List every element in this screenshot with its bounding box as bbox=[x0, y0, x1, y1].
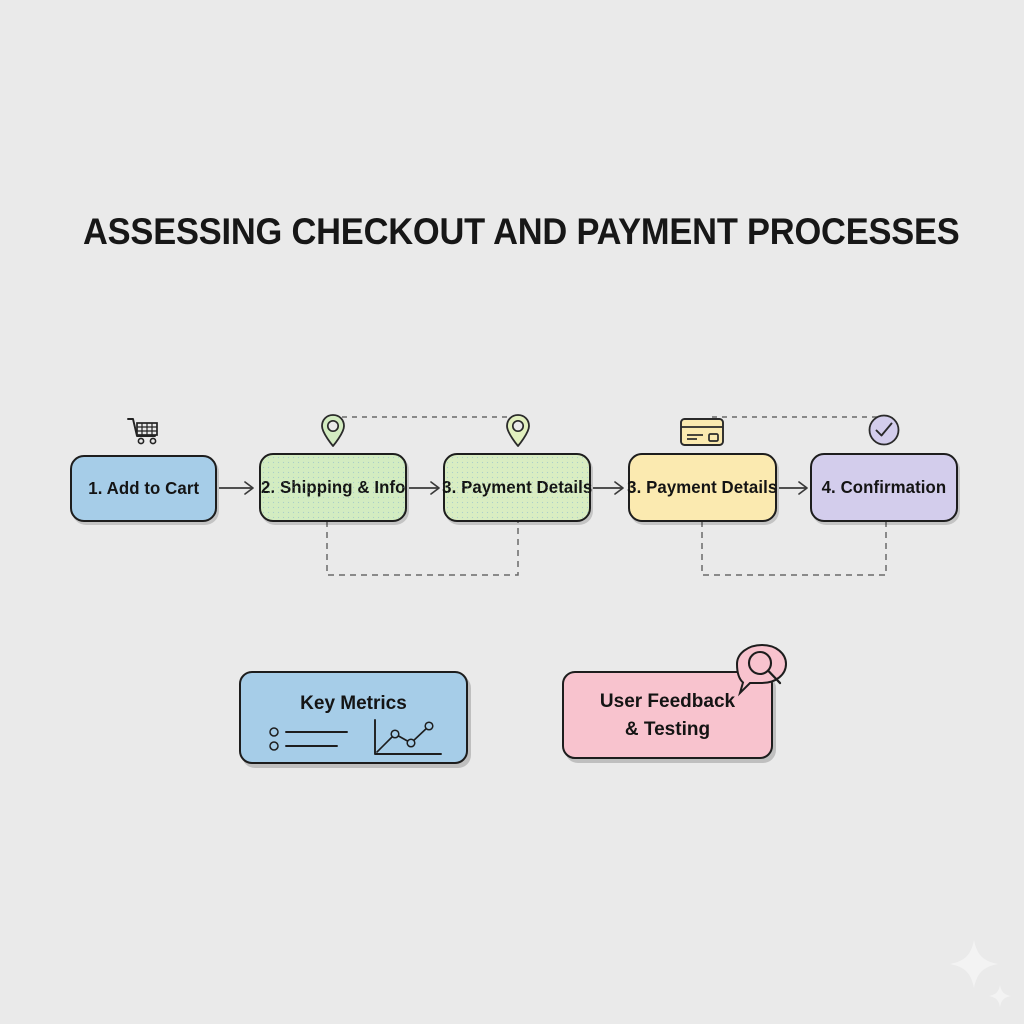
step-bracket-dashed-1 bbox=[325, 521, 530, 583]
map-pin-icon bbox=[504, 413, 532, 449]
sparkle-icon bbox=[948, 938, 1000, 995]
flow-step-4[interactable]: 3. Payment Details bbox=[628, 453, 777, 522]
sparkle-icon bbox=[988, 984, 1012, 1013]
flow-step-5-label: 4. Confirmation bbox=[822, 477, 947, 498]
bullet-list-icon bbox=[267, 723, 357, 762]
page-title: ASSESSING CHECKOUT AND PAYMENT PROCESSES bbox=[83, 211, 901, 253]
flow-step-2-label: 2. Shipping & Info bbox=[261, 477, 406, 498]
credit-card-icon bbox=[679, 416, 725, 448]
map-pin-icon bbox=[319, 413, 347, 449]
check-circle-icon bbox=[867, 413, 901, 447]
icon-connector-dashed-1 bbox=[342, 410, 522, 424]
flow-step-3[interactable]: 3. Payment Details bbox=[443, 453, 591, 522]
flow-arrow-1 bbox=[219, 478, 259, 500]
diagram-canvas: ASSESSING CHECKOUT AND PAYMENT PROCESSES bbox=[0, 0, 1024, 1024]
key-metrics-card[interactable]: Key Metrics bbox=[239, 671, 468, 764]
line-chart-icon bbox=[369, 716, 447, 767]
flow-step-3-label: 3. Payment Details bbox=[442, 477, 592, 498]
step-bracket-dashed-2 bbox=[700, 521, 900, 583]
flow-step-4-label: 3. Payment Details bbox=[627, 477, 777, 498]
user-feedback-title-line2: & Testing bbox=[564, 716, 771, 744]
flow-arrow-4 bbox=[779, 478, 813, 500]
shopping-cart-icon bbox=[126, 415, 162, 447]
icon-connector-dashed-2 bbox=[712, 410, 892, 424]
flow-step-2[interactable]: 2. Shipping & Info bbox=[259, 453, 407, 522]
flow-step-1-label: 1. Add to Cart bbox=[88, 478, 199, 499]
search-bubble-icon bbox=[732, 641, 794, 708]
flow-step-1[interactable]: 1. Add to Cart bbox=[70, 455, 217, 522]
flow-step-5[interactable]: 4. Confirmation bbox=[810, 453, 958, 522]
flow-arrow-2 bbox=[409, 478, 445, 500]
key-metrics-title: Key Metrics bbox=[241, 690, 466, 718]
flow-arrow-3 bbox=[593, 478, 629, 500]
